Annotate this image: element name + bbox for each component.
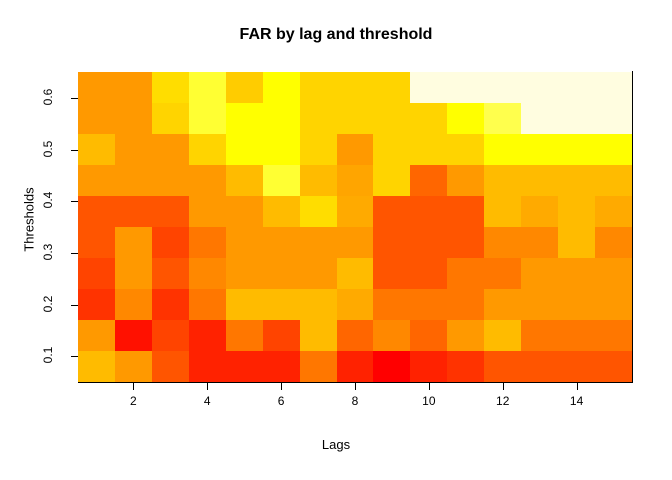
heatmap-cell	[115, 227, 152, 258]
heatmap-cell	[189, 134, 226, 165]
heatmap-cell	[115, 134, 152, 165]
heatmap-cell	[595, 165, 632, 196]
x-axis-tick-label: 14	[557, 394, 597, 408]
heatmap-cell	[595, 196, 632, 227]
heatmap-grid	[78, 72, 632, 382]
heatmap-cell	[410, 320, 447, 351]
heatmap-cell	[595, 258, 632, 289]
y-axis-tick	[71, 253, 78, 254]
heatmap-cell	[300, 289, 337, 320]
heatmap-cell	[337, 196, 374, 227]
heatmap-cell	[300, 320, 337, 351]
heatmap-cell	[484, 72, 521, 103]
y-axis-title: Thresholds	[22, 170, 37, 270]
heatmap-cell	[521, 258, 558, 289]
heatmap-cell	[226, 258, 263, 289]
heatmap-cell	[226, 227, 263, 258]
heatmap-cell	[189, 72, 226, 103]
heatmap-cell	[152, 289, 189, 320]
heatmap-cell	[152, 72, 189, 103]
heatmap-cell	[78, 134, 115, 165]
heatmap-cell	[447, 103, 484, 134]
y-axis-tick	[71, 356, 78, 357]
heatmap-cell	[337, 103, 374, 134]
heatmap-cell	[226, 351, 263, 382]
heatmap-cell	[447, 165, 484, 196]
heatmap-cell	[595, 72, 632, 103]
heatmap-cell	[78, 258, 115, 289]
heatmap-cell	[373, 227, 410, 258]
heatmap-cell	[373, 289, 410, 320]
heatmap-cell	[300, 196, 337, 227]
heatmap-cell	[484, 351, 521, 382]
heatmap-cell	[189, 103, 226, 134]
heatmap-cell	[78, 351, 115, 382]
heatmap-cell	[300, 72, 337, 103]
heatmap-cell	[447, 227, 484, 258]
heatmap-cell	[337, 351, 374, 382]
heatmap-cell	[595, 227, 632, 258]
heatmap-cell	[521, 165, 558, 196]
heatmap-cell	[189, 320, 226, 351]
heatmap-cell	[373, 258, 410, 289]
heatmap-cell	[337, 320, 374, 351]
heatmap-cell	[521, 227, 558, 258]
heatmap-cell	[410, 351, 447, 382]
heatmap-cell	[226, 72, 263, 103]
x-axis-tick-label: 2	[113, 394, 153, 408]
heatmap-cell	[78, 227, 115, 258]
heatmap-cell	[373, 72, 410, 103]
heatmap-cell	[337, 258, 374, 289]
heatmap-cell	[300, 165, 337, 196]
heatmap-cell	[189, 165, 226, 196]
heatmap-cell	[152, 258, 189, 289]
heatmap-cell	[595, 351, 632, 382]
heatmap-cell	[373, 165, 410, 196]
heatmap-cell	[152, 165, 189, 196]
y-axis-tick-label: 0.2	[41, 286, 55, 322]
heatmap-cell	[558, 289, 595, 320]
heatmap-cell	[558, 227, 595, 258]
y-axis-tick-label: 0.4	[41, 182, 55, 218]
heatmap-cell	[410, 103, 447, 134]
x-axis-title: Lags	[0, 437, 672, 452]
heatmap-cell	[484, 258, 521, 289]
heatmap-cell	[189, 289, 226, 320]
heatmap-cell	[410, 227, 447, 258]
heatmap-cell	[115, 165, 152, 196]
heatmap-cell	[189, 351, 226, 382]
y-axis-tick	[71, 201, 78, 202]
heatmap-cell	[115, 196, 152, 227]
heatmap-cell	[263, 289, 300, 320]
heatmap-cell	[78, 289, 115, 320]
y-axis-tick-label: 0.1	[41, 337, 55, 373]
heatmap-cell	[373, 134, 410, 165]
heatmap-cell	[189, 258, 226, 289]
heatmap-cell	[447, 72, 484, 103]
chart-title: FAR by lag and threshold	[0, 26, 672, 44]
heatmap-cell	[263, 227, 300, 258]
y-axis-tick	[71, 305, 78, 306]
y-axis-tick-label: 0.5	[41, 131, 55, 167]
heatmap-cell	[115, 258, 152, 289]
heatmap-cell	[521, 351, 558, 382]
heatmap-cell	[410, 289, 447, 320]
heatmap-cell	[115, 351, 152, 382]
y-axis-tick	[71, 98, 78, 99]
heatmap-cell	[373, 103, 410, 134]
heatmap-cell	[521, 289, 558, 320]
x-axis-tick	[133, 383, 134, 390]
x-axis-tick	[429, 383, 430, 390]
heatmap-cell	[226, 196, 263, 227]
heatmap-cell	[521, 196, 558, 227]
heatmap-cell	[152, 134, 189, 165]
x-axis-tick-label: 12	[483, 394, 523, 408]
heatmap-cell	[595, 103, 632, 134]
heatmap-cell	[558, 134, 595, 165]
heatmap-cell	[300, 103, 337, 134]
heatmap-cell	[263, 196, 300, 227]
x-axis-tick	[355, 383, 356, 390]
heatmap-cell	[447, 258, 484, 289]
heatmap-cell	[447, 320, 484, 351]
heatmap-figure: FAR by lag and threshold 2468101214 0.10…	[0, 0, 672, 480]
heatmap-cell	[558, 196, 595, 227]
heatmap-cell	[373, 320, 410, 351]
heatmap-cell	[226, 103, 263, 134]
heatmap-cell	[263, 72, 300, 103]
heatmap-cell	[300, 227, 337, 258]
heatmap-cell	[447, 196, 484, 227]
heatmap-cell	[521, 320, 558, 351]
heatmap-cell	[115, 72, 152, 103]
x-axis-tick	[207, 383, 208, 390]
heatmap-cell	[300, 258, 337, 289]
x-axis-tick	[503, 383, 504, 390]
heatmap-cell	[410, 258, 447, 289]
heatmap-cell	[558, 103, 595, 134]
x-axis-tick	[281, 383, 282, 390]
heatmap-cell	[337, 227, 374, 258]
heatmap-cell	[337, 165, 374, 196]
heatmap-cell	[226, 320, 263, 351]
heatmap-cell	[484, 227, 521, 258]
heatmap-cell	[337, 134, 374, 165]
heatmap-cell	[263, 103, 300, 134]
heatmap-cell	[152, 320, 189, 351]
heatmap-cell	[115, 103, 152, 134]
heatmap-cell	[595, 134, 632, 165]
heatmap-cell	[152, 103, 189, 134]
heatmap-cell	[373, 351, 410, 382]
heatmap-cell	[410, 165, 447, 196]
plot-area	[78, 72, 632, 382]
heatmap-cell	[78, 196, 115, 227]
heatmap-cell	[447, 351, 484, 382]
heatmap-cell	[558, 258, 595, 289]
heatmap-cell	[521, 72, 558, 103]
heatmap-cell	[300, 351, 337, 382]
heatmap-cell	[447, 289, 484, 320]
heatmap-cell	[115, 320, 152, 351]
heatmap-cell	[484, 103, 521, 134]
heatmap-cell	[78, 72, 115, 103]
x-axis-tick-label: 4	[187, 394, 227, 408]
heatmap-cell	[300, 134, 337, 165]
heatmap-cell	[152, 227, 189, 258]
y-axis-line	[632, 71, 633, 383]
heatmap-cell	[410, 72, 447, 103]
heatmap-cell	[226, 289, 263, 320]
heatmap-cell	[595, 289, 632, 320]
heatmap-cell	[558, 351, 595, 382]
x-axis-tick-label: 8	[335, 394, 375, 408]
heatmap-cell	[263, 165, 300, 196]
heatmap-cell	[78, 103, 115, 134]
heatmap-cell	[410, 196, 447, 227]
heatmap-cell	[226, 165, 263, 196]
heatmap-cell	[226, 134, 263, 165]
heatmap-cell	[410, 134, 447, 165]
heatmap-cell	[152, 351, 189, 382]
heatmap-cell	[373, 196, 410, 227]
heatmap-cell	[484, 320, 521, 351]
heatmap-cell	[484, 196, 521, 227]
heatmap-cell	[263, 258, 300, 289]
heatmap-cell	[558, 72, 595, 103]
heatmap-cell	[337, 72, 374, 103]
x-axis-tick	[577, 383, 578, 390]
y-axis-tick-label: 0.6	[41, 79, 55, 115]
heatmap-cell	[152, 196, 189, 227]
heatmap-cell	[595, 320, 632, 351]
heatmap-cell	[521, 103, 558, 134]
x-axis-tick-label: 10	[409, 394, 449, 408]
x-axis-tick-label: 6	[261, 394, 301, 408]
heatmap-cell	[558, 320, 595, 351]
heatmap-cell	[263, 134, 300, 165]
heatmap-cell	[484, 134, 521, 165]
y-axis-tick	[71, 150, 78, 151]
heatmap-cell	[78, 320, 115, 351]
heatmap-cell	[447, 134, 484, 165]
heatmap-cell	[189, 196, 226, 227]
heatmap-cell	[263, 320, 300, 351]
y-axis-tick-label: 0.3	[41, 234, 55, 270]
heatmap-cell	[263, 351, 300, 382]
heatmap-cell	[115, 289, 152, 320]
heatmap-cell	[558, 165, 595, 196]
heatmap-cell	[189, 227, 226, 258]
heatmap-cell	[521, 134, 558, 165]
heatmap-cell	[484, 289, 521, 320]
heatmap-cell	[78, 165, 115, 196]
heatmap-cell	[337, 289, 374, 320]
heatmap-cell	[484, 165, 521, 196]
